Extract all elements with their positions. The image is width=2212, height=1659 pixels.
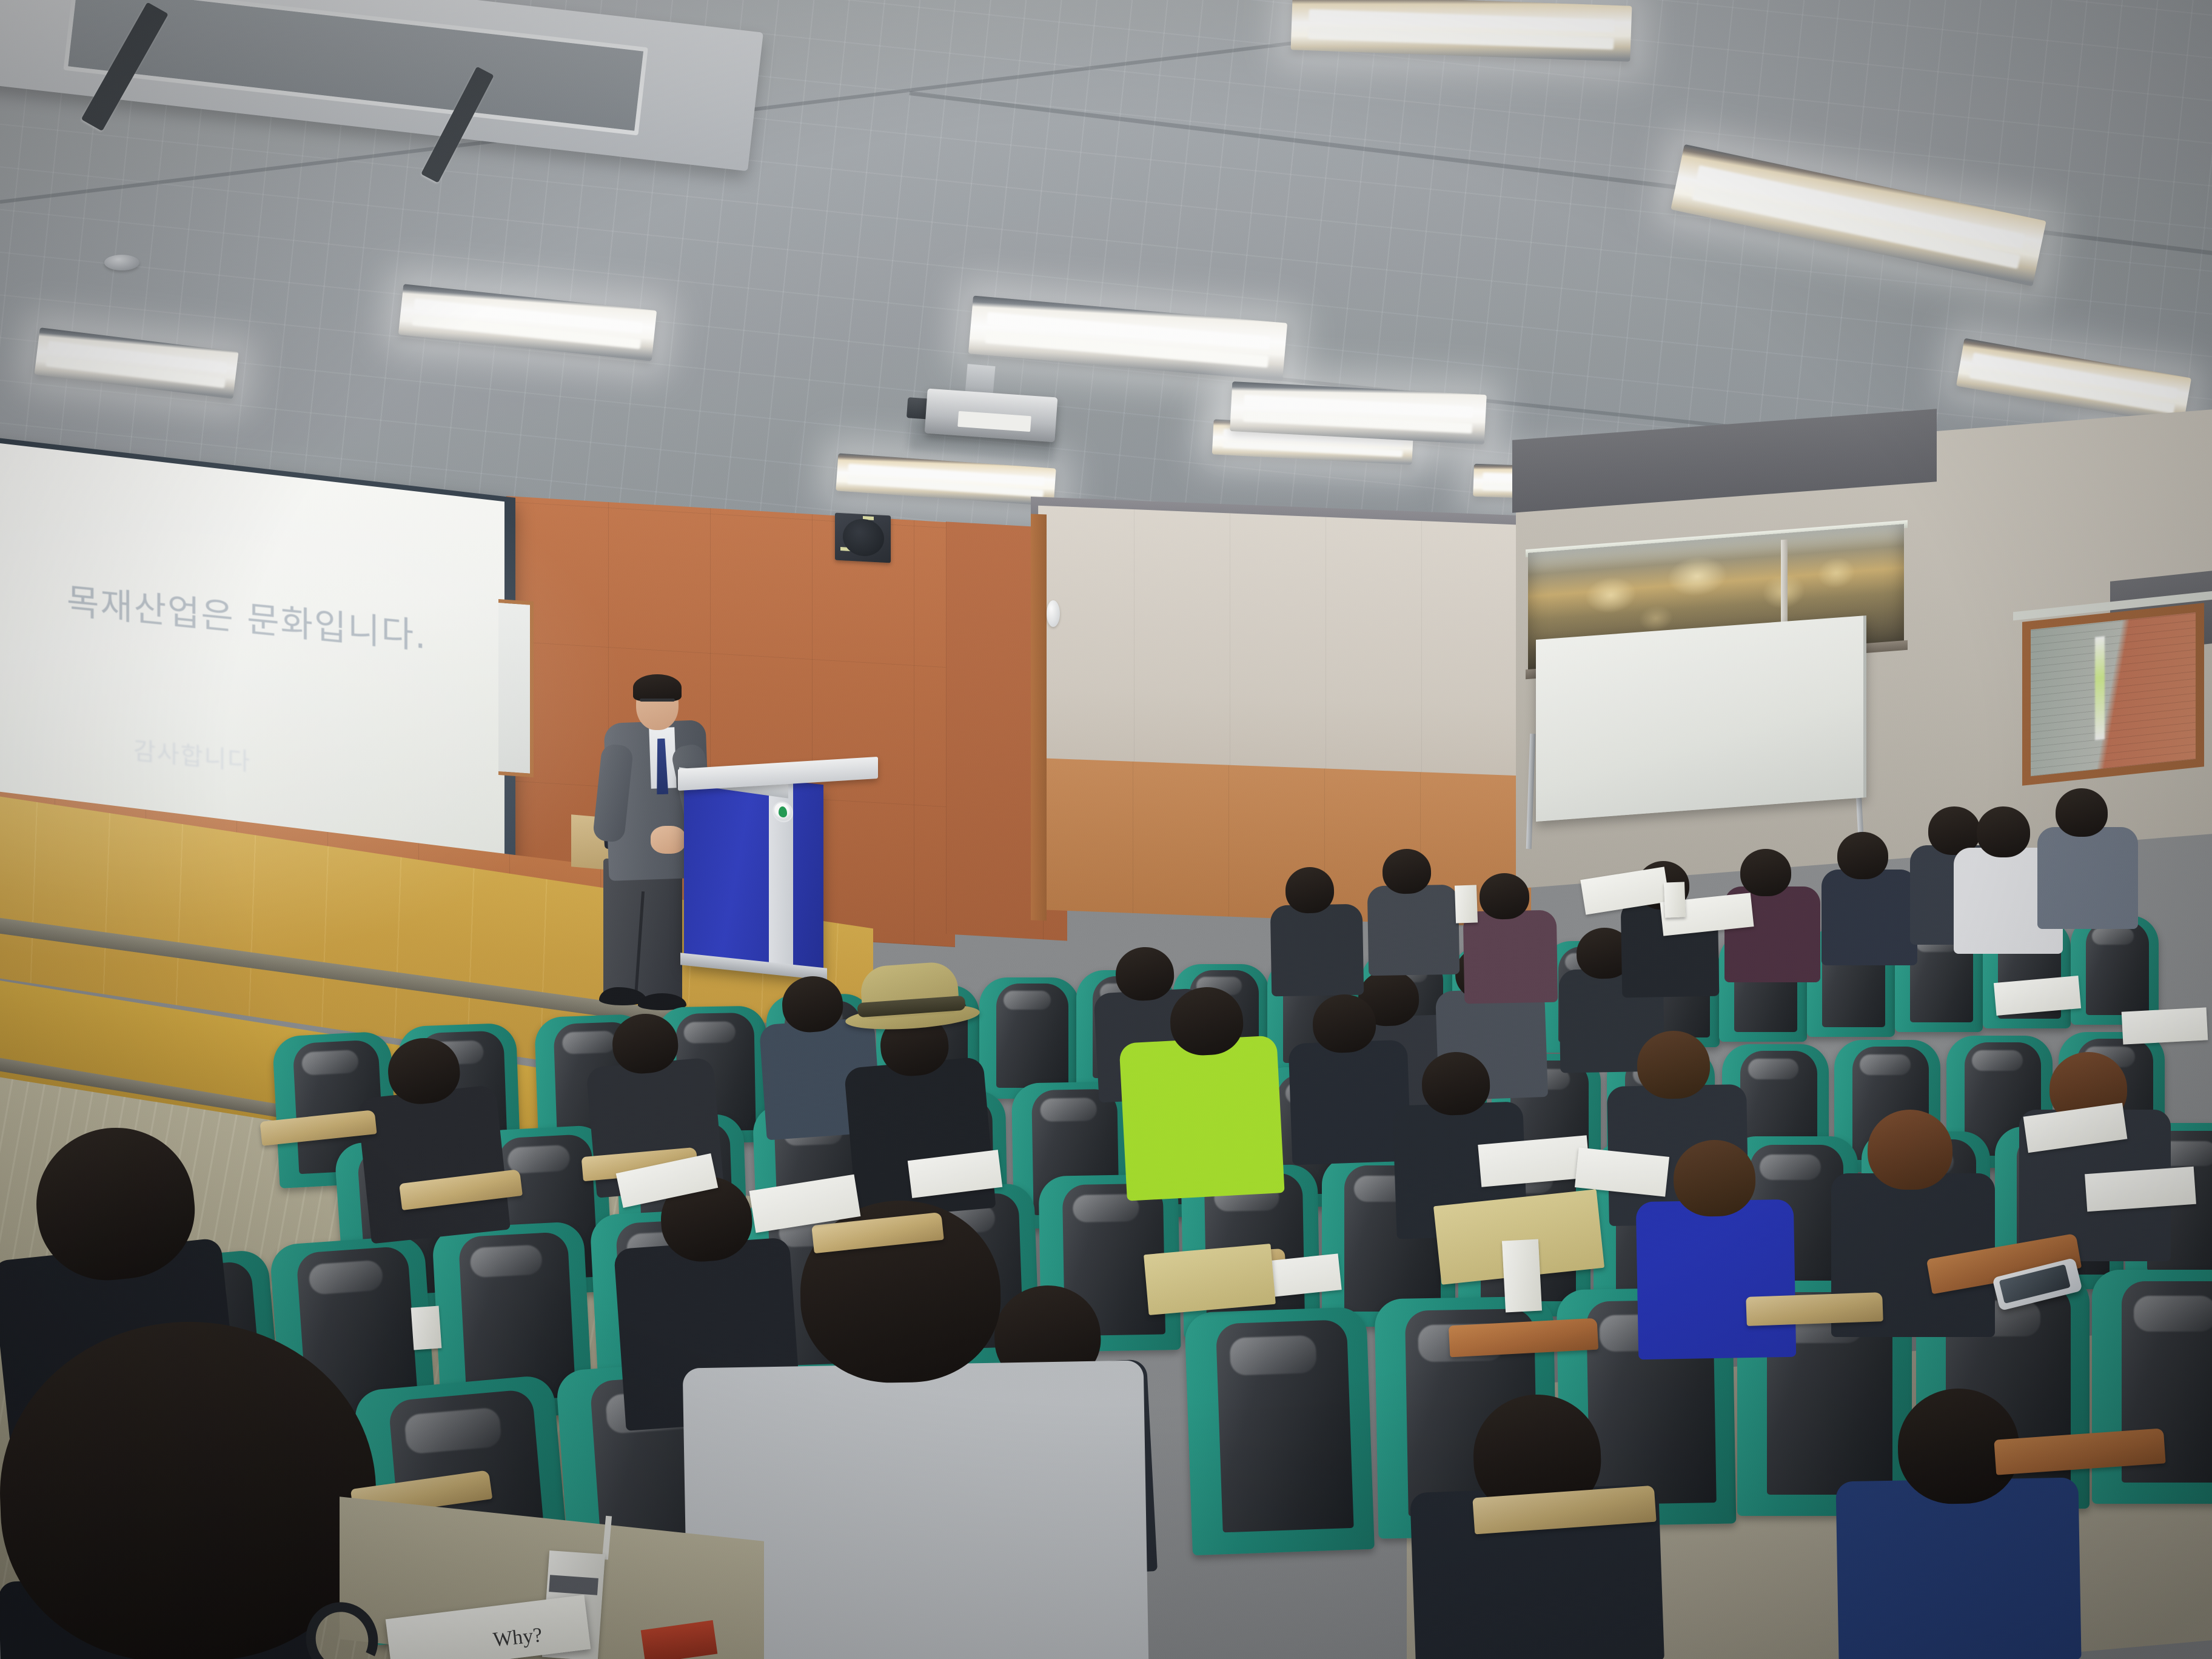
audience-member-head	[1740, 849, 1791, 896]
handout-paper[interactable]	[2122, 1007, 2208, 1044]
wall-trim	[1031, 514, 1047, 921]
seat-back-panel	[1216, 1319, 1354, 1532]
audience-member-head	[1479, 873, 1529, 919]
audience-member-body	[1822, 870, 1917, 965]
lecture-hall-photo: 목재산업은 문화입니다. 감사합니다 Why	[0, 0, 2212, 1659]
audience-member-head	[2056, 788, 2108, 837]
emergency-light-icon	[1047, 600, 1060, 627]
audience-member-head	[1837, 832, 1888, 879]
audience-member-head	[1382, 848, 1431, 894]
drink-carton[interactable]	[1502, 1239, 1542, 1313]
wall-notice-board	[498, 599, 534, 777]
slide-closing-text: 감사합니다	[133, 731, 388, 791]
auditorium-seat[interactable]	[2092, 1270, 2212, 1504]
eyeglasses-icon	[640, 699, 675, 702]
auditorium-seat[interactable]	[979, 977, 1079, 1099]
booklet-band	[549, 1575, 598, 1595]
audience-member-body	[1289, 1040, 1412, 1165]
presenter-hair	[633, 674, 682, 701]
audience-member-body	[1835, 1478, 2081, 1659]
window-glare	[2095, 636, 2105, 740]
audience-member-head	[1868, 1110, 1952, 1190]
back-wall-panel	[1038, 506, 1529, 786]
drink-carton[interactable]	[1455, 885, 1478, 923]
drink-carton[interactable]	[411, 1305, 442, 1350]
auditorium-seat[interactable]	[2071, 916, 2159, 1025]
audience-member-body	[357, 1085, 511, 1244]
audience-member-body	[1270, 904, 1364, 997]
audience-member-body	[1636, 1199, 1796, 1359]
wall-speaker	[835, 513, 891, 563]
audience-member-head	[1285, 866, 1334, 913]
smoke-detector-icon	[104, 255, 139, 270]
seat-back-panel	[2086, 921, 2149, 1015]
drink-carton[interactable]	[1664, 882, 1686, 917]
side-window	[2022, 603, 2204, 786]
audience-member-head	[1977, 806, 2030, 857]
clipboard[interactable]	[1144, 1244, 1276, 1315]
whiteboard[interactable]	[1536, 615, 1866, 822]
podium	[684, 770, 823, 979]
auditorium-seat[interactable]	[1184, 1307, 1375, 1555]
slide-title: 목재산업은 문화입니다.	[67, 572, 443, 660]
seat-back-panel	[996, 984, 1068, 1088]
handout-title: Why?	[492, 1624, 543, 1652]
audience-member-body	[1367, 885, 1460, 976]
audience-member-head	[1637, 1030, 1711, 1099]
audience-member-body	[1463, 910, 1558, 1004]
audience-member-head	[1673, 1139, 1756, 1217]
presenter-hands	[651, 826, 686, 854]
audience-member-body	[2037, 827, 2138, 929]
audience-member-body	[1119, 1035, 1284, 1201]
handout-paper[interactable]	[2085, 1167, 2196, 1212]
seat-armrest	[1746, 1292, 1883, 1326]
